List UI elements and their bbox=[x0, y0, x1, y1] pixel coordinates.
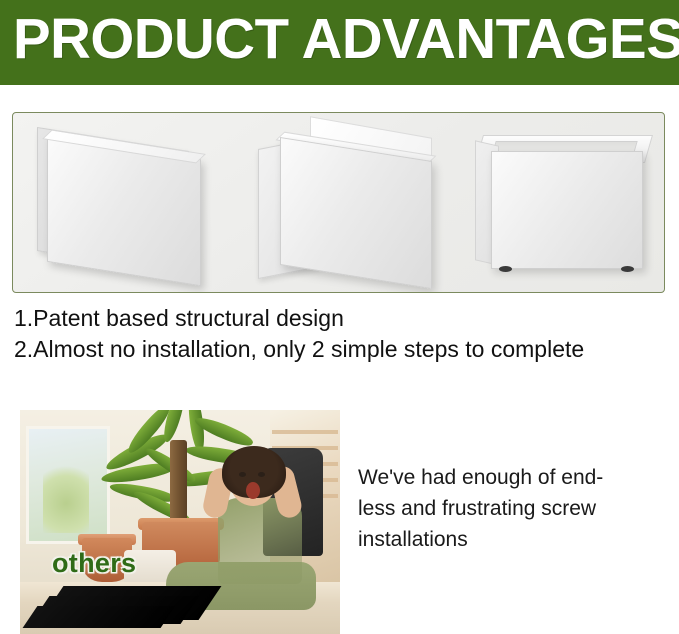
outdoor-foliage bbox=[43, 459, 89, 533]
person-eye bbox=[239, 472, 246, 477]
box-front-face bbox=[491, 151, 643, 269]
box-foot bbox=[621, 266, 634, 272]
copy-line: less and frustrating screw bbox=[358, 493, 658, 524]
copy-line: We've had enough of end- bbox=[358, 462, 658, 493]
panel-front-face bbox=[280, 137, 432, 289]
copy-line: installations bbox=[358, 524, 658, 555]
photo-label-others: others bbox=[52, 548, 136, 579]
assembly-stage-3 bbox=[461, 113, 665, 293]
frustrated-customer-photo bbox=[20, 410, 340, 634]
feature-item: 1.Patent based structural design bbox=[14, 303, 664, 334]
box-foot bbox=[499, 266, 512, 272]
person-mouth bbox=[246, 482, 260, 499]
header-banner: PRODUCT ADVANTAGES bbox=[0, 0, 679, 85]
assembly-steps-diagram bbox=[12, 112, 665, 293]
flat-panel bbox=[23, 606, 176, 628]
person-eye bbox=[258, 472, 265, 477]
feature-item: 2.Almost no installation, only 2 simple … bbox=[14, 334, 664, 365]
comparison-copy: We've had enough of end- less and frustr… bbox=[358, 462, 658, 555]
page-title: PRODUCT ADVANTAGES bbox=[13, 3, 679, 75]
feature-list: 1.Patent based structural design 2.Almos… bbox=[14, 303, 664, 365]
black-flat-panels bbox=[26, 586, 216, 632]
assembly-stage-1 bbox=[23, 113, 223, 293]
photo-scene bbox=[20, 410, 340, 634]
assembly-stage-2 bbox=[258, 113, 458, 293]
